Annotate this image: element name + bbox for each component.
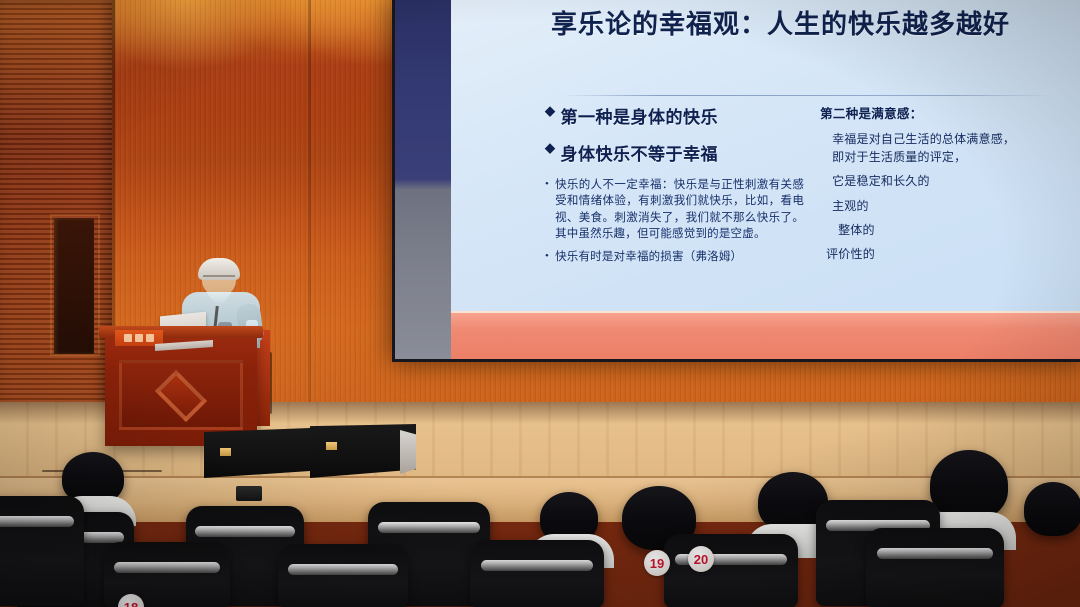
slide-columns: ◆ 第一种是身体的快乐 ◆ 身体快乐不等于幸福 • 快乐的人不一定幸福：快乐是与… bbox=[451, 103, 1080, 273]
podium-diamond-ornament bbox=[155, 370, 207, 422]
speaker-side-face bbox=[400, 430, 416, 474]
seat[interactable] bbox=[470, 540, 604, 607]
podium-front-panel bbox=[119, 360, 243, 430]
lecture-hall-scene: 享乐论的幸福观：人生的快乐越多越好 ◆ 第一种是身体的快乐 ◆ 身体快乐不等于幸… bbox=[0, 0, 1080, 607]
slide-left-column: ◆ 第一种是身体的快乐 ◆ 身体快乐不等于幸福 • 快乐的人不一定幸福：快乐是与… bbox=[451, 103, 810, 273]
slide-heading-1: ◆ 第一种是身体的快乐 bbox=[545, 103, 804, 128]
slide-bullet-2: • 快乐有时是对幸福的损害（弗洛姆） bbox=[545, 249, 804, 265]
nameplate-glyph bbox=[135, 334, 143, 342]
podium bbox=[105, 334, 257, 446]
floor-junction-box bbox=[236, 486, 262, 501]
seat-numbered[interactable]: 18 bbox=[104, 542, 230, 607]
seat[interactable] bbox=[278, 544, 408, 607]
nameplate-glyph bbox=[124, 334, 132, 342]
wall-seam bbox=[308, 0, 311, 470]
presenter-glasses bbox=[203, 275, 235, 283]
attendee-head bbox=[930, 450, 1008, 520]
speaker-badge-icon bbox=[326, 442, 337, 450]
speaker-badge-icon bbox=[220, 448, 231, 456]
seat-grab-bar bbox=[378, 522, 481, 533]
seat-number-badge: 20 bbox=[688, 546, 714, 572]
seat-grab-bar bbox=[0, 516, 74, 527]
seat-grab-bar bbox=[481, 560, 594, 571]
stage-doorway[interactable] bbox=[54, 218, 94, 354]
slide-right-line-3: 它是稳定和长久的 bbox=[820, 173, 1069, 189]
slide-bullet-1: • 快乐的人不一定幸福：快乐是与正性刺激有关感受和情绪体验，有刺激我们就快乐，比… bbox=[545, 177, 804, 242]
slide-right-heading: 第二种是满意感： bbox=[820, 103, 1069, 122]
presentation-slide: 享乐论的幸福观：人生的快乐越多越好 ◆ 第一种是身体的快乐 ◆ 身体快乐不等于幸… bbox=[451, 0, 1080, 359]
seat-grab-bar bbox=[877, 548, 993, 559]
attendee-head bbox=[1024, 482, 1080, 536]
slide-right-column: 第二种是满意感： 幸福是对自己生活的总体满意感， 即对于生活质量的评定， 它是稳… bbox=[810, 103, 1080, 273]
slide-bullet-2-text: 快乐有时是对幸福的损害（弗洛姆） bbox=[555, 249, 804, 265]
dot-bullet-icon: • bbox=[545, 249, 549, 265]
diamond-bullet-icon: ◆ bbox=[545, 103, 556, 119]
slide-right-line-2: 即对于生活质量的评定， bbox=[820, 149, 1069, 165]
seat-grab-bar bbox=[195, 526, 294, 537]
seat-number-badge: 18 bbox=[118, 594, 144, 607]
seat-numbered[interactable]: 19 20 bbox=[664, 534, 798, 607]
dot-bullet-icon: • bbox=[545, 177, 549, 242]
slide-right-line-6: 评价性的 bbox=[820, 246, 1069, 262]
nameplate-glyph bbox=[146, 334, 154, 342]
slide-heading-2-text: 身体快乐不等于幸福 bbox=[561, 140, 719, 165]
diamond-bullet-icon: ◆ bbox=[545, 140, 556, 156]
seat[interactable] bbox=[866, 528, 1004, 607]
slide-title: 享乐论的幸福观：人生的快乐越多越好 bbox=[465, 5, 1069, 41]
slide-heading-2: ◆ 身体快乐不等于幸福 bbox=[545, 140, 804, 165]
slide-bullet-1-text: 快乐的人不一定幸福：快乐是与正性刺激有关感受和情绪体验，有刺激我们就快乐，比如，… bbox=[555, 177, 804, 242]
slide-right-line-1: 幸福是对自己生活的总体满意感， bbox=[820, 131, 1069, 147]
slide-right-line-4: 主观的 bbox=[820, 198, 1069, 214]
projection-screen: 享乐论的幸福观：人生的快乐越多越好 ◆ 第一种是身体的快乐 ◆ 身体快乐不等于幸… bbox=[392, 0, 1080, 362]
slide-title-divider bbox=[561, 95, 1051, 96]
seat-number-badge: 19 bbox=[644, 550, 670, 576]
seat-grab-bar bbox=[288, 564, 397, 575]
stage-monitor-speaker-left bbox=[204, 428, 310, 478]
slide-right-line-5: 整体的 bbox=[820, 222, 1069, 238]
slide-bottom-accent-band bbox=[451, 311, 1080, 359]
screen-left-dark-band bbox=[395, 0, 451, 359]
seat-grab-bar bbox=[114, 562, 220, 573]
slide-heading-1-text: 第一种是身体的快乐 bbox=[561, 103, 719, 128]
seat[interactable] bbox=[0, 496, 84, 606]
